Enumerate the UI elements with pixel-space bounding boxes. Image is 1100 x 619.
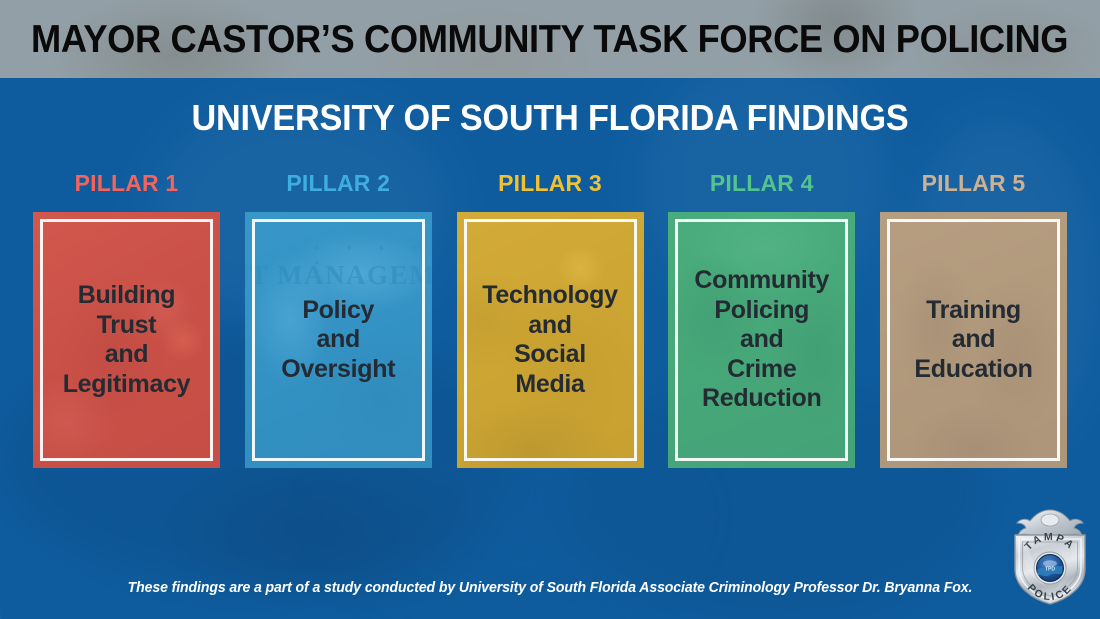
pillar-4-title: Community Policing and Crime Reduction [686,266,837,414]
badge-seal-text: TPD [1045,567,1055,573]
footer-attribution: These findings are a part of a study con… [17,580,1084,596]
tampa-police-badge-icon: TAMPA POLICE TPD [1004,507,1096,607]
pillar-2: PILLAR 2 • • • • • NT MANAGEME Policy an… [245,172,432,468]
pillar-1-label: PILLAR 1 [75,172,179,195]
page-title: MAYOR CASTOR’S COMMUNITY TASK FORCE ON P… [31,20,1068,59]
pillar-1-card[interactable]: Building Trust and Legitimacy [33,212,220,468]
pillar-3-title: Technology and Social Media [474,281,625,399]
pillar-5-title: Training and Education [906,296,1040,385]
pillar-4: PILLAR 4 Community Policing and Crime Re… [668,172,855,468]
pillar-5-label: PILLAR 5 [922,172,1026,195]
pillar-4-card[interactable]: Community Policing and Crime Reduction [668,212,855,468]
page-subtitle: UNIVERSITY OF SOUTH FLORIDA FINDINGS [28,100,1073,136]
header-band: MAYOR CASTOR’S COMMUNITY TASK FORCE ON P… [0,0,1100,78]
pillar-3-label: PILLAR 3 [498,172,602,195]
pillar-5-card[interactable]: Training and Education [880,212,1067,468]
pillar-1: PILLAR 1 Building Trust and Legitimacy [33,172,220,468]
pillars-row: PILLAR 1 Building Trust and Legitimacy P… [33,172,1067,468]
pillar-3-card[interactable]: Technology and Social Media [457,212,644,468]
pillar-1-title: Building Trust and Legitimacy [55,281,199,399]
infographic-slide: MAYOR CASTOR’S COMMUNITY TASK FORCE ON P… [0,0,1100,619]
pillar-2-title: Policy and Oversight [273,296,403,385]
pillar-4-label: PILLAR 4 [710,172,814,195]
pillar-2-card[interactable]: • • • • • NT MANAGEME Policy and Oversig… [245,212,432,468]
pillar-5: PILLAR 5 Training and Education [880,172,1067,468]
pillar-2-label: PILLAR 2 [286,172,390,195]
pillar-3: PILLAR 3 Technology and Social Media [457,172,644,468]
